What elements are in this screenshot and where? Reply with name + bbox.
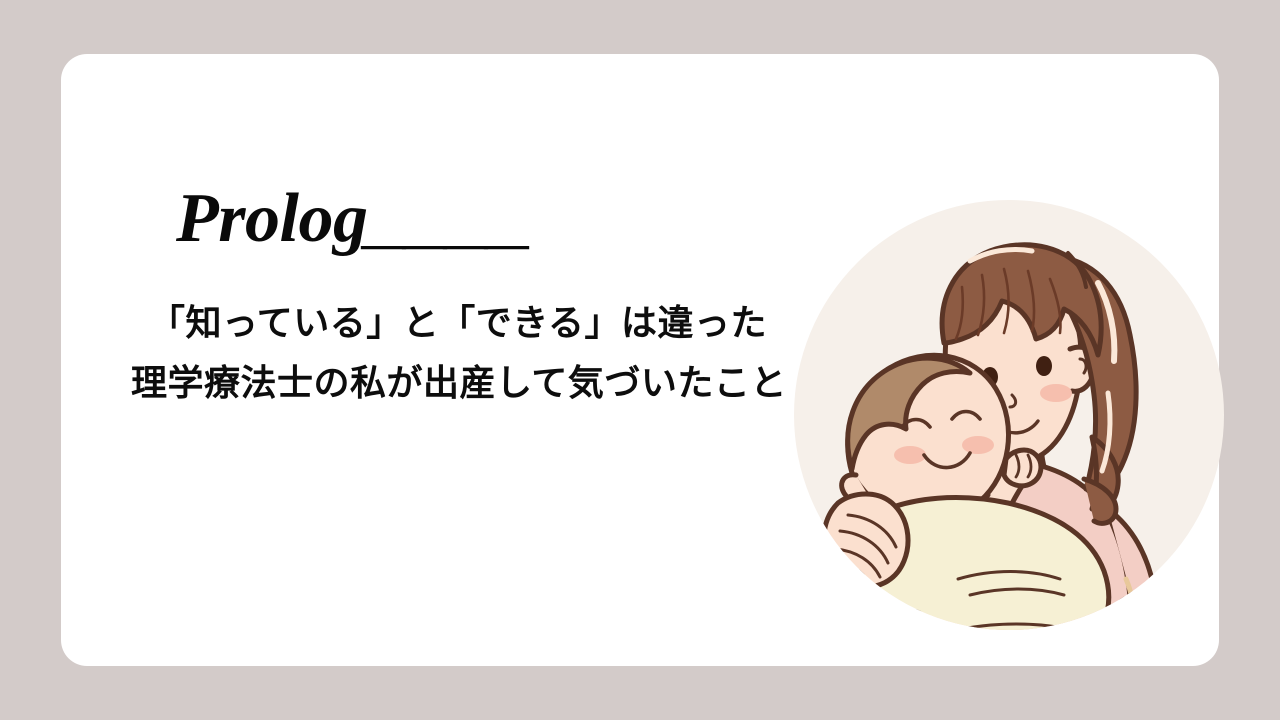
- headline-line-1: 「知っている」と「できる」は違った: [61, 294, 751, 354]
- text-block: Prolog ＿＿＿＿ 「知っている」と「できる」は違った 理学療法士の私が出産…: [61, 184, 751, 414]
- prolog-underline-rule: ＿＿＿＿: [361, 207, 525, 251]
- slide-root: Prolog ＿＿＿＿ 「知っている」と「できる」は違った 理学療法士の私が出産…: [0, 0, 1280, 720]
- headline-line-2: 理学療法士の私が出産して気づいたこと: [61, 354, 751, 414]
- prolog-heading: Prolog ＿＿＿＿: [61, 184, 751, 280]
- baby-cheek-right: [962, 436, 994, 454]
- baby-hand: [1004, 450, 1041, 486]
- content-card: Prolog ＿＿＿＿ 「知っている」と「できる」は違った 理学療法士の私が出産…: [61, 54, 1219, 666]
- mother-cheek-right: [1040, 384, 1072, 402]
- prolog-label: Prolog: [176, 184, 367, 254]
- mother-eye-right: [1036, 356, 1052, 376]
- mother-and-baby-illustration-svg: [792, 197, 1226, 633]
- mother-and-baby-illustration: [792, 197, 1226, 633]
- baby-cheek-left: [894, 446, 926, 464]
- headline: 「知っている」と「できる」は違った 理学療法士の私が出産して気づいたこと: [61, 294, 751, 414]
